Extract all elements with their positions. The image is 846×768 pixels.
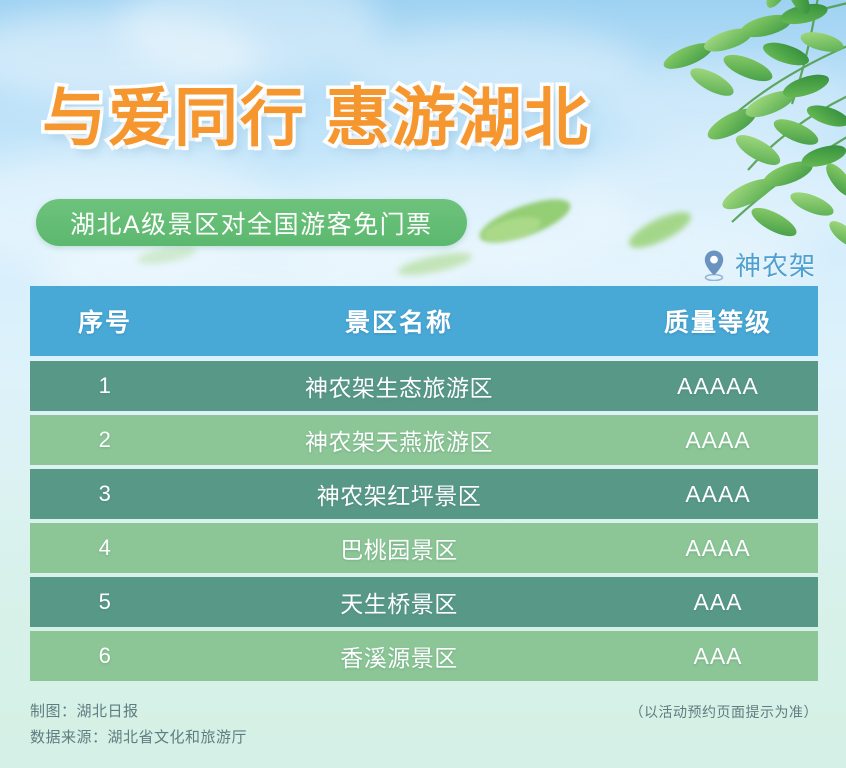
row-grade: AAAA: [618, 427, 818, 454]
table-header-row: 序号 景区名称 质量等级: [30, 286, 818, 356]
row-index: 1: [30, 373, 180, 399]
subtitle-text: 湖北A级景区对全国游客免门票: [70, 205, 433, 241]
row-grade: AAA: [618, 643, 818, 670]
table-row: 4 巴桃园景区 AAAA: [30, 523, 818, 573]
scenic-spots-table: 序号 景区名称 质量等级 1 神农架生态旅游区 AAAAA 2 神农架天燕旅游区…: [30, 286, 818, 685]
table-row: 3 神农架红坪景区 AAAA: [30, 469, 818, 519]
column-header-name: 景区名称: [180, 303, 618, 339]
location-badge: 神农架: [700, 246, 816, 283]
row-name: 天生桥景区: [180, 585, 618, 619]
footer-note: （以活动预约页面提示为准）: [630, 702, 819, 722]
table-row: 1 神农架生态旅游区 AAAAA: [30, 361, 818, 411]
table-row: 6 香溪源景区 AAA: [30, 631, 818, 681]
floating-leaf-icon: [470, 185, 580, 255]
row-grade: AAAA: [618, 535, 818, 562]
row-index: 6: [30, 643, 180, 669]
cloud-decoration: [600, 60, 846, 150]
row-grade: AAA: [618, 589, 818, 616]
floating-leaf-icon: [620, 205, 700, 255]
page-title: 与爱同行 惠游湖北: [42, 86, 590, 150]
column-header-index: 序号: [30, 303, 180, 339]
row-name: 神农架红坪景区: [180, 477, 618, 511]
poster-canvas: 与爱同行 惠游湖北 湖北A级景区对全国游客免门票 神农架 序号 景区名称 质量等…: [0, 0, 846, 768]
row-index: 4: [30, 535, 180, 561]
cloud-decoration: [560, 140, 846, 250]
row-index: 5: [30, 589, 180, 615]
row-name: 神农架天燕旅游区: [180, 423, 618, 457]
row-grade: AAAAA: [618, 373, 818, 400]
row-name: 巴桃园景区: [180, 531, 618, 565]
table-row: 2 神农架天燕旅游区 AAAA: [30, 415, 818, 465]
column-header-grade: 质量等级: [618, 303, 818, 339]
footer-credits: 制图：湖北日报 数据来源：湖北省文化和旅游厅: [30, 700, 247, 747]
row-name: 香溪源景区: [180, 639, 618, 673]
floating-leaf-icon: [390, 245, 480, 283]
table-row: 5 天生桥景区 AAA: [30, 577, 818, 627]
location-name: 神农架: [735, 246, 816, 283]
map-pin-icon: [700, 249, 728, 281]
leaf-branch-icon: [552, 0, 846, 254]
row-index: 2: [30, 427, 180, 453]
footer-credit: 制图：湖北日报: [30, 700, 247, 721]
row-grade: AAAA: [618, 481, 818, 508]
row-index: 3: [30, 481, 180, 507]
footer: 制图：湖北日报 数据来源：湖北省文化和旅游厅 （以活动预约页面提示为准）: [30, 700, 818, 747]
subtitle-banner: 湖北A级景区对全国游客免门票: [36, 199, 467, 246]
row-name: 神农架生态旅游区: [180, 369, 618, 403]
cloud-decoration: [120, 0, 380, 80]
footer-source: 数据来源：湖北省文化和旅游厅: [30, 726, 247, 747]
